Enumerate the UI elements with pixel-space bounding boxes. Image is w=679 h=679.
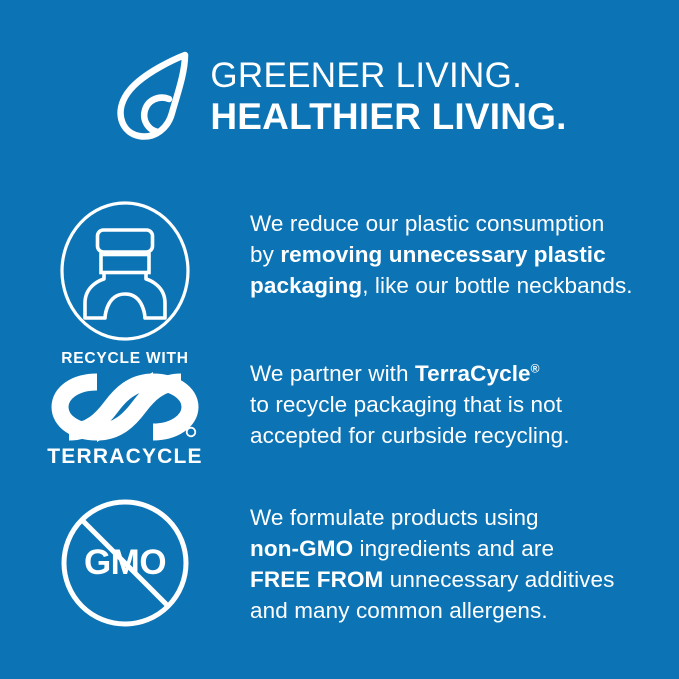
leaf-icon — [112, 51, 196, 143]
text-segment-bold: non-GMO — [250, 536, 353, 561]
text-segment: , like our bottle neckbands. — [362, 273, 632, 298]
text-segment: We partner with — [250, 361, 415, 386]
text-segment: and many common allergens. — [250, 598, 548, 623]
icon-cell-terracycle: RECYCLE WITH TERRACY — [0, 348, 250, 468]
headline-line-1: GREENER LIVING. — [210, 55, 566, 96]
text-segment: ingredients and are — [353, 536, 554, 561]
icon-cell-gmo: GMO — [0, 494, 250, 630]
feature-text-plastic-reduction: We reduce our plastic consumption by rem… — [250, 208, 679, 301]
text-segment: We reduce our plastic consumption — [250, 211, 604, 236]
infinity-recycle-arrows-icon — [50, 370, 200, 444]
text-segment-bold: TerraCycle — [415, 361, 531, 386]
text-segment: by — [250, 242, 280, 267]
text-cell-plastic-reduction: We reduce our plastic consumption by rem… — [250, 196, 679, 301]
feature-text-terracycle: We partner with TerraCycle® to recycle p… — [250, 358, 679, 451]
text-segment-bold: removing unnecessary plastic — [280, 242, 605, 267]
feature-text-non-gmo: We formulate products using non-GMO ingr… — [250, 502, 679, 626]
text-cell-terracycle: We partner with TerraCycle® to recycle p… — [250, 348, 679, 451]
header-banner: GREENER LIVING. HEALTHIER LIVING. — [0, 46, 679, 146]
headline-line-2: HEALTHIER LIVING. — [210, 96, 566, 138]
feature-row-plastic-reduction: We reduce our plastic consumption by rem… — [0, 196, 679, 344]
bottle-neckband-icon — [52, 198, 198, 344]
text-segment: accepted for curbside recycling. — [250, 423, 570, 448]
terracycle-top-label: RECYCLE WITH — [61, 350, 189, 367]
text-segment: We formulate products using — [250, 505, 539, 530]
text-segment: to recycle packaging that is not — [250, 392, 562, 417]
headline-block: GREENER LIVING. HEALTHIER LIVING. — [210, 55, 566, 138]
registered-mark: ® — [531, 362, 540, 376]
text-segment-bold: FREE FROM — [250, 567, 383, 592]
text-segment: unnecessary additives — [383, 567, 614, 592]
feature-row-terracycle: RECYCLE WITH TERRACY — [0, 348, 679, 468]
no-gmo-icon: GMO — [58, 496, 192, 630]
greener-living-infographic: GREENER LIVING. HEALTHIER LIVING. — [0, 0, 679, 679]
terracycle-bottom-label: TERRACYCLE — [47, 445, 203, 468]
terracycle-logo: RECYCLE WITH TERRACY — [49, 350, 201, 468]
feature-row-non-gmo: GMO We formulate products using non-GMO … — [0, 494, 679, 630]
icon-cell-bottle — [0, 196, 250, 344]
text-cell-non-gmo: We formulate products using non-GMO ingr… — [250, 494, 679, 626]
text-segment-bold: packaging — [250, 273, 362, 298]
